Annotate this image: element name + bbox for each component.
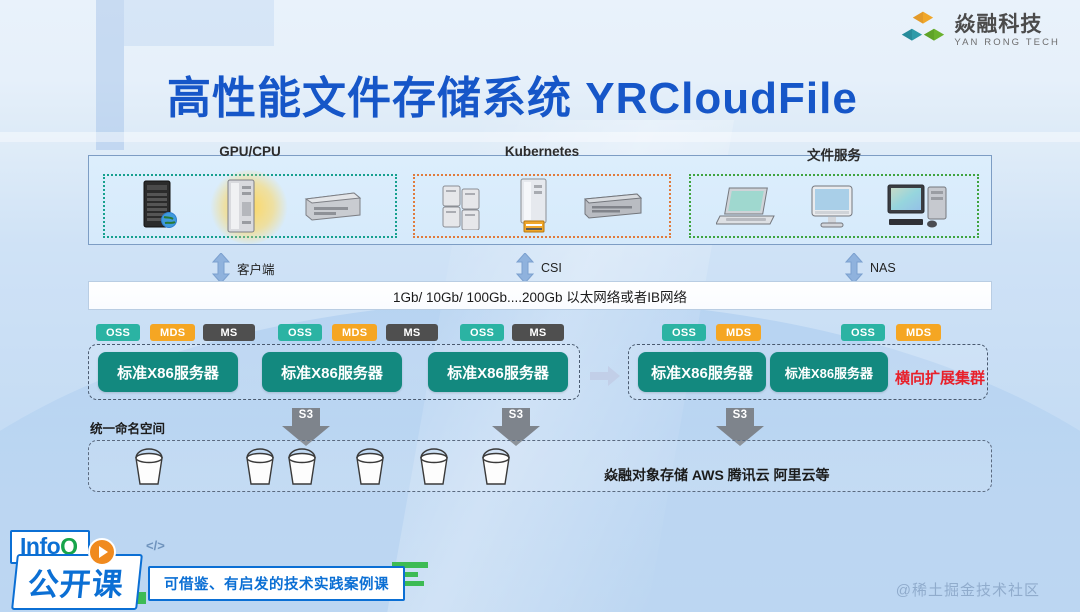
server-node: 标准X86服务器 — [770, 352, 888, 392]
connector-label: NAS — [870, 261, 896, 275]
tower-server-icon — [517, 177, 551, 235]
badge-mds: MDS — [716, 324, 761, 341]
client-group-label: GPU/CPU — [105, 144, 395, 159]
badge-oss: OSS — [278, 324, 322, 341]
bucket-icon — [131, 448, 167, 486]
logo-name-cn: 焱融科技 — [954, 14, 1060, 35]
badge-ms: MS — [512, 324, 564, 341]
badge-ms: MS — [386, 324, 438, 341]
server-node: 标准X86服务器 — [638, 352, 766, 392]
logo-mark-icon — [900, 8, 946, 54]
badge-ms: MS — [203, 324, 255, 341]
badge-oss: OSS — [662, 324, 706, 341]
client-group-label: Kubernetes — [415, 144, 669, 159]
course-tagline: 可借鉴、有启发的技术实践案例课 — [148, 566, 405, 601]
logo-name-en: YAN RONG TECH — [954, 38, 1060, 48]
bucket-icon — [352, 448, 388, 486]
client-layer-panel: GPU/CPU — [88, 155, 992, 245]
connector-client: 客户端 — [212, 253, 275, 283]
client-group-file-service: 文件服务 — [689, 174, 979, 238]
s3-arrow-label: S3 — [716, 409, 764, 421]
title-product: YRCloudFile — [585, 74, 858, 123]
container-nodes-icon — [440, 182, 486, 230]
imac-icon — [809, 183, 855, 229]
play-icon — [88, 538, 116, 566]
client-group-kubernetes: Kubernetes — [413, 174, 671, 238]
page-title: 高性能文件存储系统 YRCloudFile — [167, 62, 858, 126]
s3-arrow-label: S3 — [492, 409, 540, 421]
bucket-icon — [478, 448, 514, 486]
s3-arrow-label: S3 — [282, 409, 330, 421]
connector-label: 客户端 — [237, 259, 275, 278]
server-node: 标准X86服务器 — [428, 352, 568, 392]
network-bar: 1Gb/ 10Gb/ 100Gb....200Gb 以太网络或者IB网络 — [88, 281, 992, 310]
title-cn: 高性能文件存储系统 — [167, 74, 572, 123]
tower-server-icon — [225, 178, 259, 234]
rack-server-icon — [136, 179, 182, 233]
up-down-arrow-icon — [845, 253, 863, 283]
cloud-targets-label: 焱融对象存储 AWS 腾讯云 阿里云等 — [604, 465, 944, 485]
badge-mds: MDS — [332, 324, 377, 341]
connector-csi: CSI — [516, 253, 562, 283]
client-group-gpu-cpu: GPU/CPU — [103, 174, 397, 238]
code-glyph-icon: </> — [146, 538, 165, 553]
bucket-icon — [416, 448, 452, 486]
desktop-pc-icon — [886, 183, 952, 229]
open-course-badge: 公开课 — [11, 554, 143, 610]
slide-canvas: 焱融科技 YAN RONG TECH 高性能文件存储系统 YRCloudFile… — [0, 0, 1080, 612]
badge-mds: MDS — [896, 324, 941, 341]
expansion-cluster-note: 横向扩展集群 — [895, 367, 985, 388]
badge-mds: MDS — [150, 324, 195, 341]
connector-nas: NAS — [845, 253, 896, 283]
up-down-arrow-icon — [516, 253, 534, 283]
client-group-label: 文件服务 — [691, 144, 977, 164]
bucket-icon — [242, 448, 278, 486]
badge-oss: OSS — [96, 324, 140, 341]
namespace-label: 统一命名空间 — [90, 418, 165, 437]
up-down-arrow-icon — [212, 253, 230, 283]
connector-label: CSI — [541, 261, 562, 275]
blade-server-icon — [302, 189, 364, 223]
server-node: 标准X86服务器 — [98, 352, 238, 392]
infoq-footer-badge: InfoQ </> 公开课 可借鉴、有启发的技术实践案例课 — [0, 516, 430, 612]
bucket-icon — [284, 448, 320, 486]
network-bar-text: 1Gb/ 10Gb/ 100Gb....200Gb 以太网络或者IB网络 — [393, 286, 687, 306]
badge-oss: OSS — [841, 324, 885, 341]
watermark: @稀土掘金技术社区 — [896, 579, 1040, 600]
right-arrow-icon — [590, 366, 620, 386]
company-logo: 焱融科技 YAN RONG TECH — [900, 8, 1060, 54]
server-node: 标准X86服务器 — [262, 352, 402, 392]
logo-text: 焱融科技 YAN RONG TECH — [954, 14, 1060, 48]
badge-oss: OSS — [460, 324, 504, 341]
rackmount-server-icon — [582, 191, 644, 221]
laptop-icon — [716, 184, 778, 228]
scale-out-arrow — [590, 366, 620, 391]
